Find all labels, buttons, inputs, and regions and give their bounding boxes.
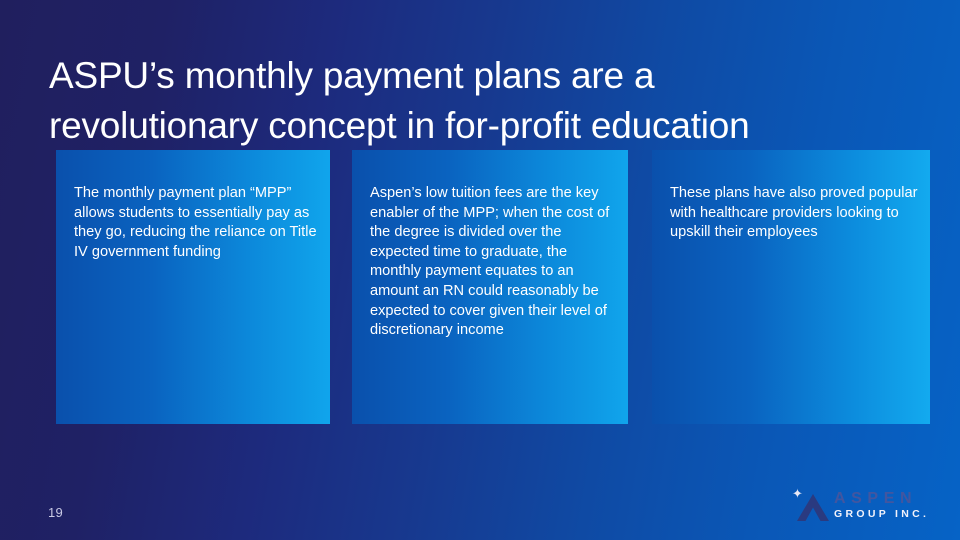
logo-primary-text: ASPEN [834,490,934,508]
logo-secondary-text: GROUP INC. [834,508,934,521]
panel-body-text: These plans have also proved popular wit… [670,184,922,243]
content-panel-tuition-enabler: Aspen’s low tuition fees are the key ena… [352,150,628,424]
aspen-group-logo: ✦ ASPEN GROUP INC. [792,487,937,527]
content-panel-mpp-definition: The monthly payment plan “MPP” allows st… [56,150,330,424]
logo-wordmark: ASPEN GROUP INC. [834,490,934,521]
page-number: 19 [48,505,63,520]
page-title: ASPU’s monthly payment plans are a revol… [49,51,909,151]
panel-body-text: Aspen’s low tuition fees are the key ena… [370,184,620,341]
slide-canvas: ASPU’s monthly payment plans are a revol… [0,0,960,540]
panel-body-text: The monthly payment plan “MPP” allows st… [74,184,322,262]
content-panel-healthcare-providers: These plans have also proved popular wit… [652,150,930,424]
sparkle-icon: ✦ [792,487,806,501]
